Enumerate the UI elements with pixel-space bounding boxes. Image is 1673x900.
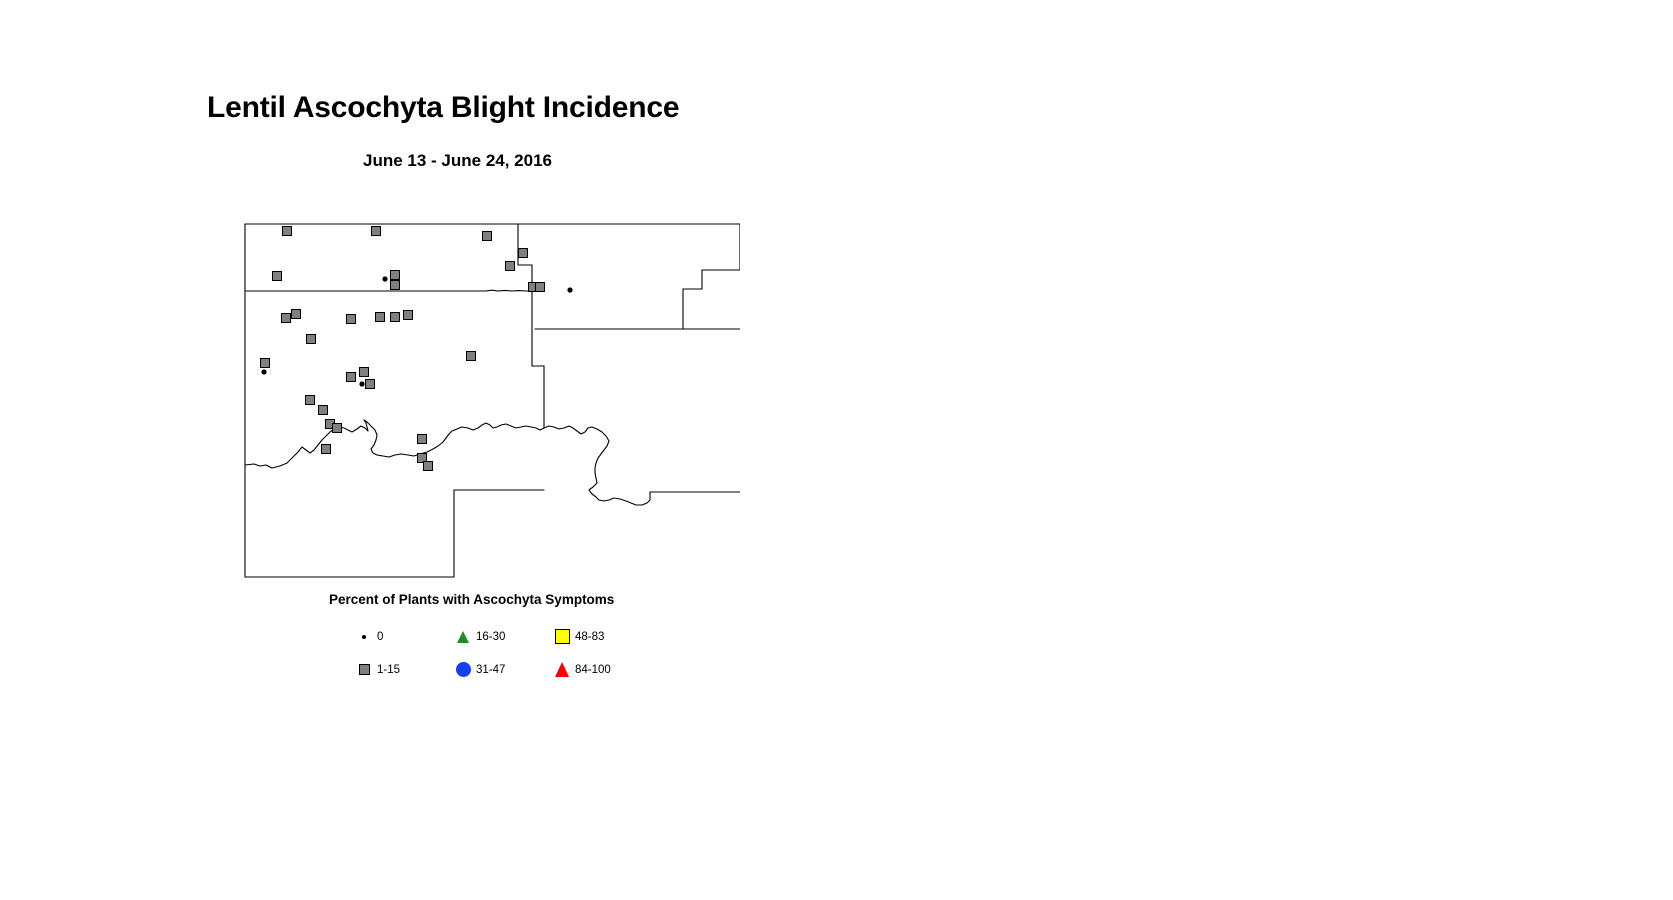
green-triangle-icon [450,631,476,643]
legend-row-2: 1-15 31-47 84-100 [351,653,731,686]
map-point-1-15[interactable] [282,314,291,323]
map-point-1-15[interactable] [319,406,328,415]
map-point-1-15[interactable] [372,227,381,236]
map-point-1-15[interactable] [519,249,528,258]
figure-root: Lentil Ascochyta Blight Incidence June 1… [0,0,1673,900]
legend-label-16-30: 16-30 [476,631,505,643]
map-point-1-15[interactable] [333,424,342,433]
map-point-1-15[interactable] [418,435,427,444]
map-point-1-15[interactable] [391,313,400,322]
map-point-zero[interactable] [567,287,572,292]
map-point-1-15[interactable] [347,373,356,382]
map-point-1-15[interactable] [322,445,331,454]
incidence-map[interactable] [240,200,740,600]
map-point-1-15[interactable] [506,262,515,271]
legend-entry-31-47[interactable]: 31-47 [450,653,549,686]
map-point-1-15[interactable] [347,315,356,324]
gray-square-icon [351,664,377,675]
map-boundaries [245,224,740,577]
legend-title: Percent of Plants with Ascochyta Symptom… [329,592,614,607]
page-title: Lentil Ascochyta Blight Incidence [207,91,679,125]
map-point-1-15[interactable] [376,313,385,322]
red-triangle-icon [549,662,575,677]
blue-circle-icon [450,662,476,677]
legend-entry-1-15[interactable]: 1-15 [351,653,450,686]
map-point-1-15[interactable] [360,368,369,377]
map-point-1-15[interactable] [404,311,413,320]
map-point-zero[interactable] [359,381,364,386]
legend-entry-84-100[interactable]: 84-100 [549,653,648,686]
map-point-1-15[interactable] [261,359,270,368]
map-point-zero[interactable] [261,369,266,374]
yellow-square-icon [549,629,575,644]
map-data-points[interactable] [261,227,573,471]
map-point-1-15[interactable] [467,352,476,361]
legend-grid: 0 16-30 48-83 [351,620,731,686]
map-point-1-15[interactable] [483,232,492,241]
legend-label-1-15: 1-15 [377,664,400,676]
legend-label-0: 0 [377,631,383,643]
north-band-divider-east [486,290,532,291]
map-point-zero[interactable] [382,276,387,281]
map-point-1-15[interactable] [306,396,315,405]
legend-label-31-47: 31-47 [476,664,505,676]
legend-entry-16-30[interactable]: 16-30 [450,620,549,653]
map-point-1-15[interactable] [391,281,400,290]
map-point-1-15[interactable] [424,462,433,471]
legend-entry-48-83[interactable]: 48-83 [549,620,648,653]
river-boundary [245,420,650,505]
legend-row-1: 0 16-30 48-83 [351,620,731,653]
legend-entry-0[interactable]: 0 [351,620,450,653]
map-point-1-15[interactable] [366,380,375,389]
legend-label-48-83: 48-83 [575,631,604,643]
map-point-1-15[interactable] [292,310,301,319]
legend-label-84-100: 84-100 [575,664,611,676]
map-svg [240,200,740,600]
map-point-1-15[interactable] [283,227,292,236]
dot-icon [351,635,377,639]
legend: Percent of Plants with Ascochyta Symptom… [329,592,729,692]
map-point-1-15[interactable] [391,271,400,280]
map-point-1-15[interactable] [273,272,282,281]
map-point-1-15[interactable] [536,283,545,292]
page-subtitle: June 13 - June 24, 2016 [363,151,552,171]
map-point-1-15[interactable] [307,335,316,344]
